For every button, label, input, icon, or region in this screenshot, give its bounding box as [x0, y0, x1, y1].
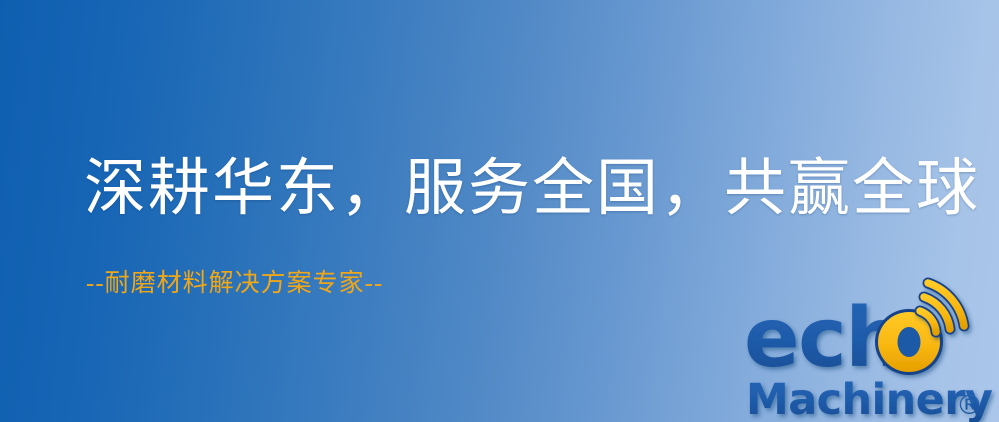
banner-headline: 深耕华东，服务全国，共赢全球: [84, 152, 980, 226]
hero-banner: 深耕华东，服务全国，共赢全球 --耐磨材料解决方案专家--: [0, 0, 999, 422]
logo-svg: ech Machinery ®: [744, 292, 999, 422]
logo-o-counter: [898, 327, 921, 357]
logo-tagline-group: Machinery ®: [746, 375, 993, 422]
banner-subtitle: --耐磨材料解决方案专家--: [86, 268, 383, 300]
logo-registered-mark: ®: [956, 390, 983, 421]
echo-machinery-logo: ech Machinery ®: [744, 292, 999, 422]
